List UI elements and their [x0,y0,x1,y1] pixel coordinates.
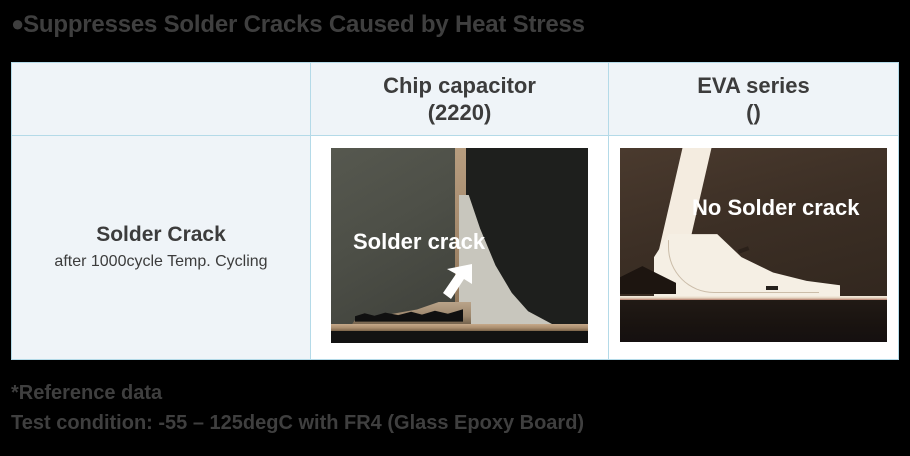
table-header-row: Chip capacitor (2220) EVA series () [12,63,899,136]
slide-title-text: Suppresses Solder Cracks Caused by Heat … [23,11,585,38]
chip-capacitor-figure-wrap: Solder crack [331,148,588,343]
header-cell-empty [12,63,311,136]
chip-pad-line [331,324,588,331]
chip-board [331,331,588,343]
comparison-table: Chip capacitor (2220) EVA series () Sold… [11,62,899,360]
down-left-arrow-icon [441,262,475,302]
header-chip-line1: Chip capacitor [311,72,608,99]
eva-series-figure-wrap: No Solder crack [620,148,887,342]
row-label-subtitle: after 1000cycle Temp. Cycling [12,250,310,274]
footnotes: *Reference data Test condition: -55 – 12… [11,378,584,438]
header-cell-chip-capacitor: Chip capacitor (2220) [311,63,609,136]
footnote-test-condition: Test condition: -55 – 125degC with FR4 (… [11,408,584,438]
slide-title: ●Suppresses Solder Cracks Caused by Heat… [11,7,585,42]
header-chip-line2: (2220) [311,99,608,126]
eva-series-cell: No Solder crack [609,136,899,360]
row-label-title: Solder Crack [12,221,310,249]
eva-speck-lower [766,286,778,290]
eva-board [620,300,887,342]
solder-crack-caption: Solder crack [353,229,485,255]
footnote-reference-data: *Reference data [11,378,584,408]
header-eva-line1: EVA series [609,72,898,99]
row-label-cell: Solder Crack after 1000cycle Temp. Cycli… [12,136,311,360]
chip-capacitor-micrograph: Solder crack [331,148,588,343]
header-eva-line2: () [609,99,898,126]
eva-series-micrograph: No Solder crack [620,148,887,342]
no-solder-crack-caption: No Solder crack [692,195,860,221]
header-cell-eva-series: EVA series () [609,63,899,136]
table-body-row: Solder Crack after 1000cycle Temp. Cycli… [12,136,899,360]
chip-capacitor-cell: Solder crack [311,136,609,360]
